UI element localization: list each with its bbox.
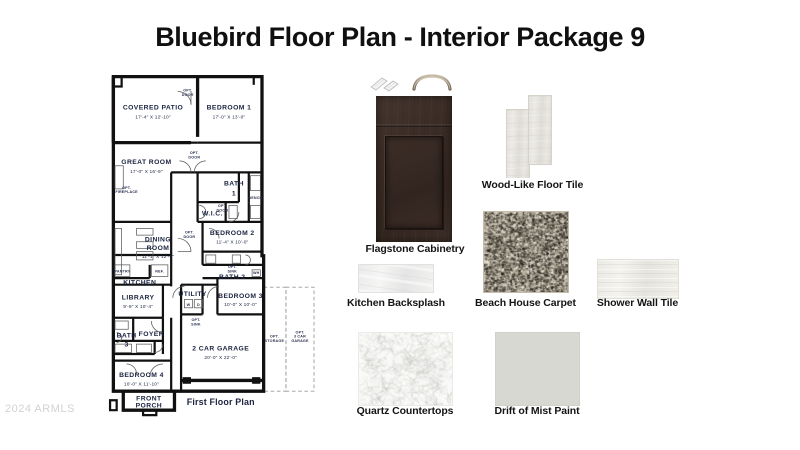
caption-beach-house-carpet: Beach House Carpet [455,297,596,309]
shower-tile-texture [598,260,678,298]
svg-text:KITCHEN: KITCHEN [123,280,156,287]
svg-text:FOYER: FOYER [139,331,164,338]
svg-text:11'-4" X 10'-0": 11'-4" X 10'-0" [216,239,248,245]
swatch-drift-of-mist-paint[interactable] [495,332,580,406]
svg-text:BEDROOM 2: BEDROOM 2 [210,230,255,237]
svg-text:GREAT ROOM: GREAT ROOM [121,159,171,166]
svg-text:BEDROOM 3: BEDROOM 3 [218,293,263,300]
svg-text:9'-9" X 10'-4": 9'-9" X 10'-4" [123,304,153,310]
caption-drift-of-mist-paint: Drift of Mist Paint [452,405,622,417]
caption-flagstone-cabinetry: Flagstone Cabinetry [330,243,500,255]
svg-text:DINING: DINING [145,237,171,244]
swatch-kitchen-backsplash[interactable] [358,264,434,293]
watermark: 2024 ARMLS [5,403,75,415]
svg-text:10'-0" X 10'-0": 10'-0" X 10'-0" [224,302,257,308]
swatch-shower-wall-tile[interactable] [597,259,679,299]
cabinet-pull-icon [410,73,454,95]
swatch-wood-like-floor-tile[interactable] [506,95,558,178]
svg-text:SINK: SINK [228,269,238,273]
svg-text:BENCH: BENCH [248,196,262,200]
svg-text:ROOM: ROOM [147,245,170,252]
swatch-flagstone-cabinetry[interactable] [376,96,452,242]
svg-text:D: D [197,303,200,307]
svg-text:BATH: BATH [117,333,137,340]
svg-text:BEDROOM 4: BEDROOM 4 [119,372,164,379]
svg-text:DOOR: DOOR [182,93,194,97]
svg-text:PANTRY: PANTRY [115,269,131,273]
cabinet-knob-icon [368,75,404,95]
svg-text:WH: WH [253,271,260,275]
svg-text:17'-0" X 13'-0": 17'-0" X 13'-0" [213,115,246,121]
quartz-veining-texture [359,333,452,405]
caption-shower-wall-tile: Shower Wall Tile [588,297,687,309]
floor-plan-diagram: COVERED PATIO 17'-4" X 12'-10" BEDROOM 1… [100,70,315,430]
caption-kitchen-backsplash: Kitchen Backsplash [338,297,454,309]
svg-text:DOOR: DOOR [216,208,228,212]
svg-text:GARAGE: GARAGE [291,339,309,343]
svg-text:W: W [187,303,191,307]
svg-text:17'-0" X 16'-9": 17'-0" X 16'-9" [130,169,163,175]
svg-text:3: 3 [124,342,128,349]
caption-wood-like-floor-tile: Wood-Like Floor Tile [455,179,610,191]
svg-text:BEDROOM 1: BEDROOM 1 [207,105,252,112]
svg-text:FIREPLACE: FIREPLACE [115,190,138,194]
cabinet-recessed-panel [385,136,443,229]
svg-text:LIBRARY: LIBRARY [122,295,155,302]
svg-text:SINK: SINK [191,322,201,326]
svg-text:2 CAR GARAGE: 2 CAR GARAGE [192,346,249,353]
svg-text:DOOR: DOOR [183,235,195,239]
svg-text:1: 1 [232,191,236,198]
svg-text:10'-0" X 11'-10": 10'-0" X 11'-10" [124,381,159,387]
svg-text:REF.: REF. [155,269,164,273]
svg-text:UTILITY: UTILITY [178,291,207,298]
plank-left [506,109,530,178]
svg-text:20'-0" X 22'-0": 20'-0" X 22'-0" [204,355,237,361]
cabinet-rail [376,124,452,127]
svg-text:COVERED PATIO: COVERED PATIO [123,105,183,112]
svg-text:STORAGE: STORAGE [265,339,285,343]
backsplash-texture [359,265,433,292]
swatch-quartz-countertops[interactable] [358,332,453,406]
page-title: Bluebird Floor Plan - Interior Package 9 [0,22,800,53]
svg-text:BATH 2: BATH 2 [219,274,245,281]
svg-text:PORCH: PORCH [136,403,163,410]
svg-text:11'-1" X 12'-9": 11'-1" X 12'-9" [142,254,174,260]
svg-text:BATH: BATH [224,181,244,188]
svg-text:17'-4" X 12'-10": 17'-4" X 12'-10" [135,115,171,121]
svg-text:DOOR: DOOR [188,156,200,160]
plank-right [528,95,552,165]
floor-plan-caption: First Floor Plan [187,397,255,407]
svg-text:FRONT: FRONT [136,395,162,402]
